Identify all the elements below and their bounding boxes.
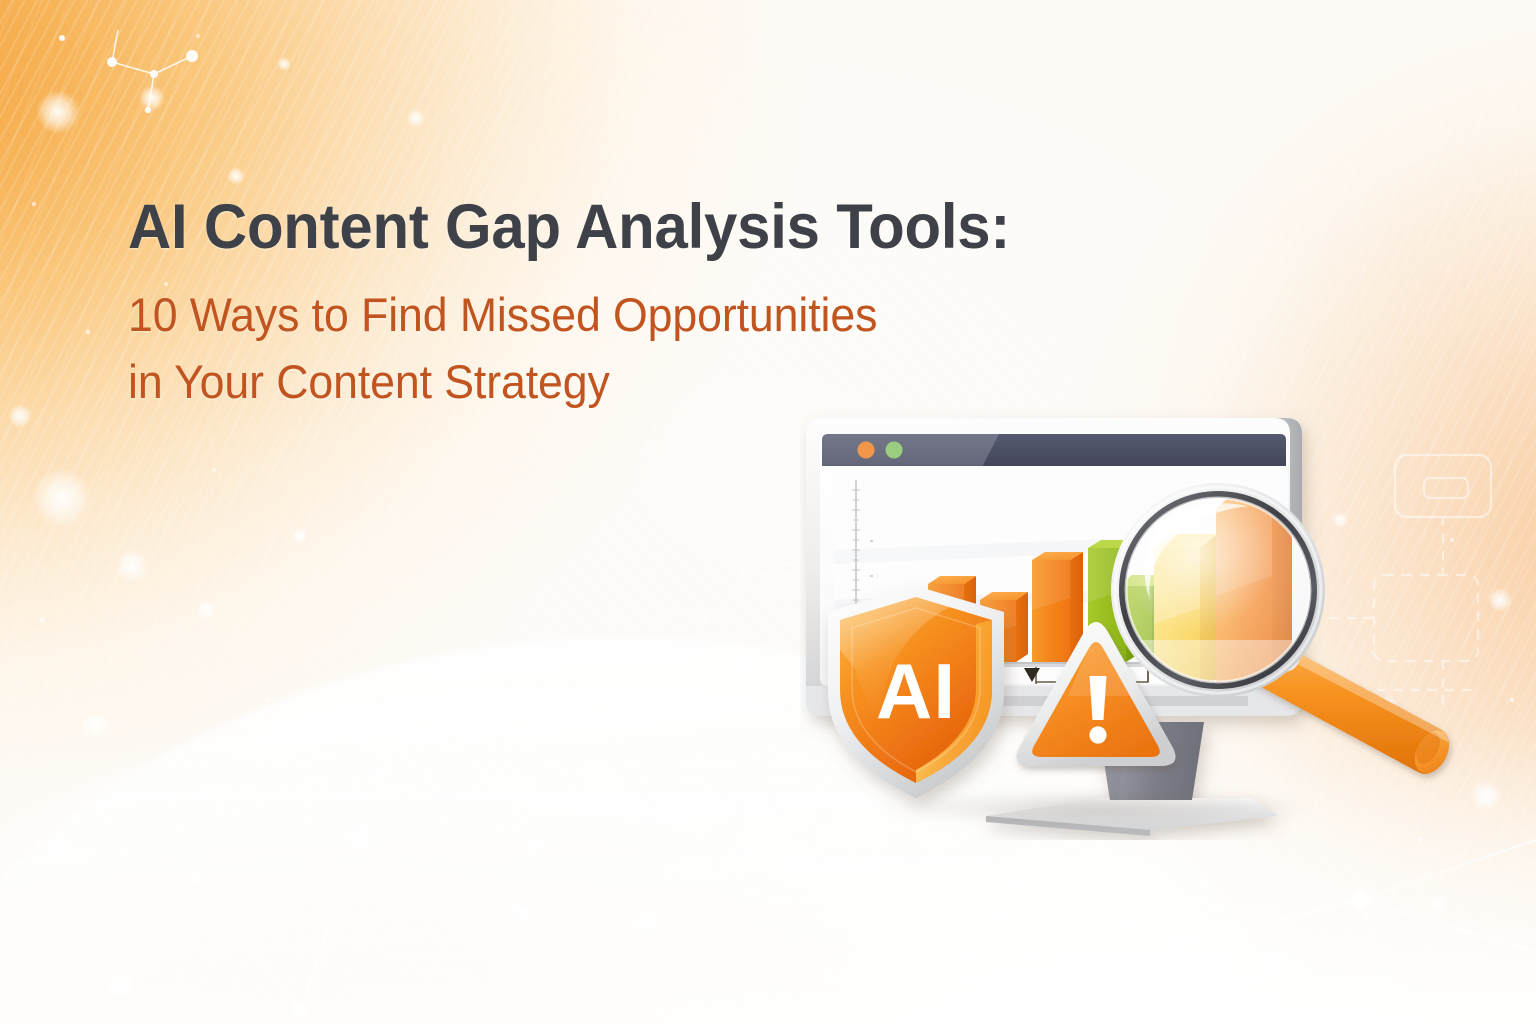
- banner-canvas: AI Content Gap Analysis Tools: 10 Ways t…: [0, 0, 1536, 1024]
- page-title: AI Content Gap Analysis Tools:: [128, 196, 1202, 259]
- hero-illustration: AI: [800, 400, 1480, 840]
- illustration-ground-shadow: [820, 785, 1380, 831]
- ai-shield-badge[interactable]: AI: [828, 586, 1004, 798]
- page-subtitle: 10 Ways to Find Missed Opportunities in …: [128, 281, 1202, 415]
- subtitle-line-1: 10 Ways to Find Missed Opportunities: [128, 281, 1202, 348]
- exclamation-mark: [1089, 676, 1106, 744]
- headline-block: AI Content Gap Analysis Tools: 10 Ways t…: [128, 196, 1258, 415]
- chart-bar: [1032, 552, 1083, 662]
- illustration-svg: AI: [800, 400, 1480, 840]
- shield-label: AI: [876, 647, 956, 735]
